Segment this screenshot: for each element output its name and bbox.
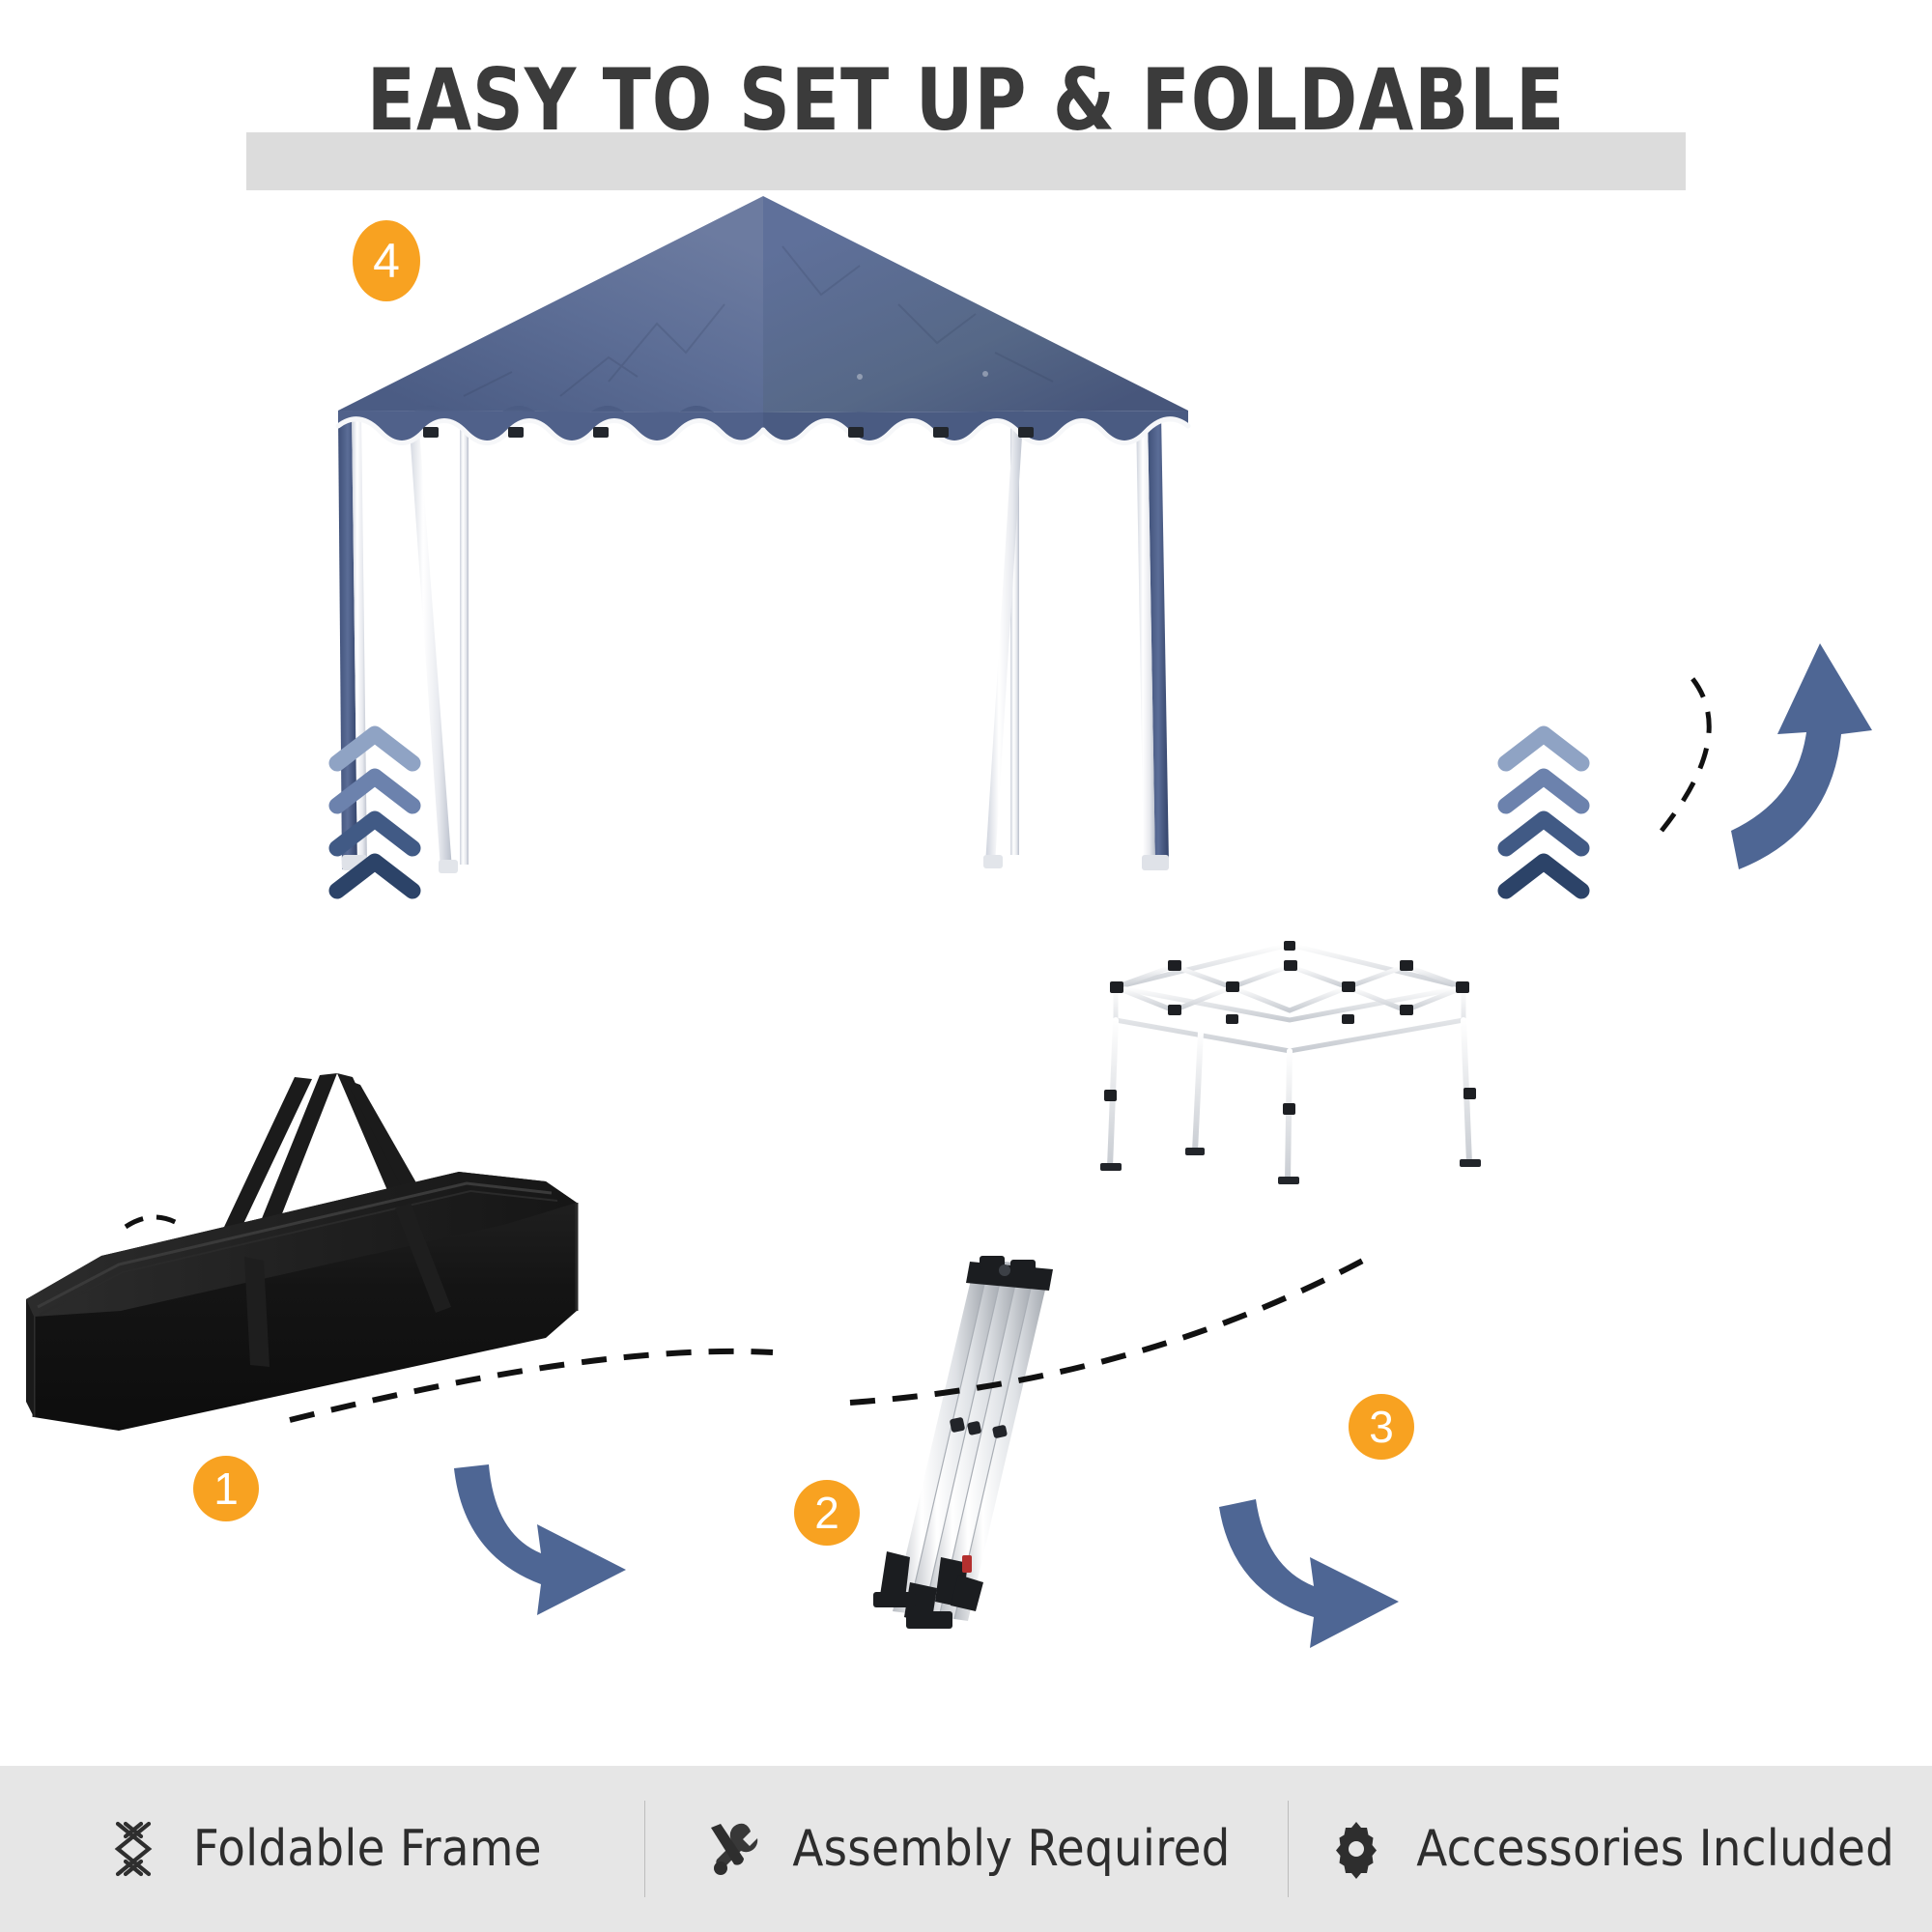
- chevron-up-icon-1: [1506, 734, 1581, 763]
- expanded-frame-image: [1087, 927, 1492, 1188]
- curved-arrow-1: [454, 1464, 626, 1615]
- gear-icon: [1325, 1818, 1387, 1880]
- chevron-up-icon-4: [1506, 862, 1581, 891]
- step-badge-2: 2: [794, 1480, 860, 1546]
- chevron-up-group-left: [322, 723, 428, 906]
- feature-label-1: Foldable Frame: [193, 1820, 542, 1878]
- chevron-up-icon-3: [337, 819, 412, 848]
- foldable-frame-icon: [102, 1818, 164, 1880]
- chevron-up-icon-3: [1506, 819, 1581, 848]
- curved-arrow-3: [1731, 643, 1872, 869]
- folded-frame-image: [850, 1227, 1150, 1642]
- chevron-up-group-right: [1491, 723, 1597, 906]
- feature-assembly-required: Assembly Required: [644, 1766, 1289, 1932]
- feature-label-3: Accessories Included: [1416, 1820, 1894, 1878]
- assembly-tools-icon: [701, 1818, 763, 1880]
- chevron-up-icon-2: [337, 777, 412, 806]
- curved-arrow-2: [1219, 1499, 1399, 1648]
- canopy-roof-panels: [338, 196, 1188, 412]
- chevron-up-icon-2: [1506, 777, 1581, 806]
- step-badge-4: 4: [353, 220, 420, 301]
- assembled-canopy-image: [319, 188, 1207, 923]
- canopy-roof-svg: [319, 188, 1207, 923]
- step-badge-3: 3: [1349, 1394, 1414, 1460]
- dashed-path-3: [1662, 676, 1709, 831]
- bag-body: [26, 1172, 577, 1431]
- infographic-stage: EASY TO SET UP & FOLDABLE: [0, 0, 1932, 1932]
- chevron-up-icon-1: [337, 734, 412, 763]
- step-badge-1: 1: [193, 1456, 259, 1521]
- feature-foldable-frame: Foldable Frame: [0, 1766, 644, 1932]
- folded-frame-accent: [962, 1555, 972, 1573]
- page-title: EASY TO SET UP & FOLDABLE: [68, 50, 1864, 150]
- chevron-up-icon-4: [337, 862, 412, 891]
- feature-label-2: Assembly Required: [792, 1820, 1230, 1878]
- footer-feature-bar: Foldable Frame Assembly Required Accesso…: [0, 1766, 1932, 1932]
- feature-accessories-included: Accessories Included: [1288, 1766, 1932, 1932]
- carry-bag-image: [5, 1058, 604, 1444]
